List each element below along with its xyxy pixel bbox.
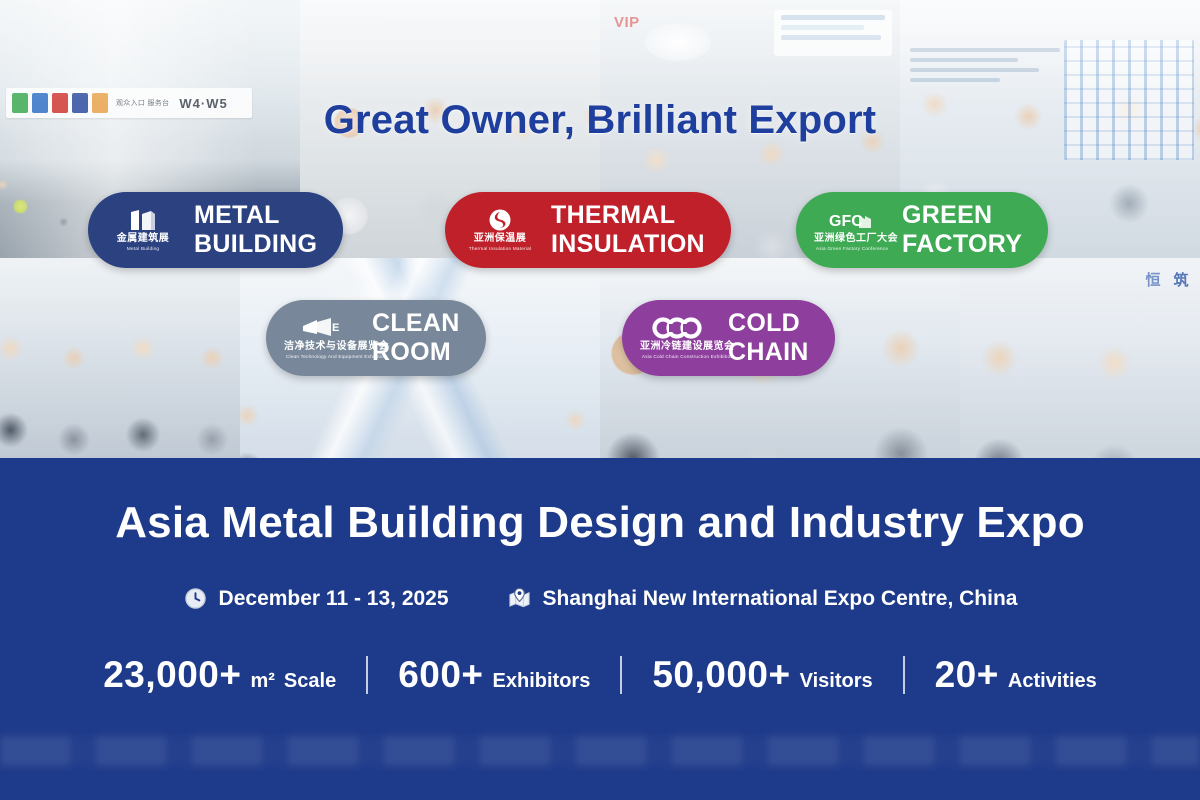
green-factory-gfc-icon: GFC xyxy=(814,207,888,233)
stat-number: 50,000+ xyxy=(652,654,790,696)
stat-number: 600+ xyxy=(398,654,483,696)
banner-char-a: 筑 xyxy=(1168,268,1194,294)
booth-panel xyxy=(774,10,892,56)
logo-cn-text: 亚洲冷链建设展览会 xyxy=(640,341,714,353)
meta-row: December 11 - 13, 2025 Shanghai New Inte… xyxy=(0,586,1200,611)
logo-en-text: Asia Cold Chain Construction Exhibition xyxy=(642,353,712,361)
stat-number: 23,000+ xyxy=(103,654,241,696)
logo-green-factory: GFC 亚洲绿色工厂大会 Asia Green Factory Conferen… xyxy=(814,207,888,253)
logo-cn-text: 金属建筑展 xyxy=(106,233,180,245)
photo-registration-desk: 筑 恒 xyxy=(960,258,1200,458)
pill-metal-building[interactable]: 金属建筑展 Metal Building METAL BUILDING xyxy=(88,192,343,268)
collage-row-bottom: 筑 恒 xyxy=(0,258,1200,458)
stat-scale: 23,000+ m² Scale xyxy=(73,654,366,696)
stat-unit: Exhibitors xyxy=(493,670,591,693)
clock-icon xyxy=(183,586,208,611)
stat-unit: Scale xyxy=(284,670,336,693)
logo-cn-text: 亚洲保温展 xyxy=(463,233,537,245)
stat-visitors: 50,000+ Visitors xyxy=(622,654,902,696)
banner-char-b: 恒 xyxy=(1140,268,1166,294)
clean-room-mark-icon: E xyxy=(284,315,358,341)
map-pin-icon xyxy=(507,586,532,611)
svg-text:GFC: GFC xyxy=(829,213,863,230)
logo-en-text: Asia Green Factory Conference xyxy=(816,245,886,253)
stat-activities: 20+ Activities xyxy=(905,654,1127,696)
stats-row: 23,000+ m² Scale 600+ Exhibitors 50,000+… xyxy=(0,654,1200,696)
expo-title: Asia Metal Building Design and Industry … xyxy=(0,498,1200,548)
stat-exhibitors: 600+ Exhibitors xyxy=(368,654,620,696)
expo-banner-page: 观众入口 服务台 W4·W5 VIP 筑 恒 xyxy=(0,0,1200,800)
stat-unit: Activities xyxy=(1008,670,1097,693)
cold-chain-rings-icon xyxy=(640,315,714,341)
event-venue-text: Shanghai New International Expo Centre, … xyxy=(543,587,1018,611)
pill-label: METAL BUILDING xyxy=(194,201,317,259)
headline: Great Owner, Brilliant Export xyxy=(0,98,1200,143)
pill-label: GREEN FACTORY xyxy=(902,201,1022,259)
metal-building-mark-icon xyxy=(106,207,180,233)
pill-thermal-insulation[interactable]: 亚洲保温展 Thermal Insulation Material THERMA… xyxy=(445,192,731,268)
stat-unit: Visitors xyxy=(800,670,873,693)
event-date: December 11 - 13, 2025 xyxy=(183,586,449,611)
pill-clean-room[interactable]: E 洁净技术与设备展览会 Clean Technology And Equipm… xyxy=(266,300,486,376)
logo-cold-chain: 亚洲冷链建设展览会 Asia Cold Chain Construction E… xyxy=(640,315,714,361)
logo-en-text: Clean Technology And Equipment Exhibitio… xyxy=(286,353,356,361)
logo-thermal-insulation: 亚洲保温展 Thermal Insulation Material xyxy=(463,207,537,253)
logo-clean-room: E 洁净技术与设备展览会 Clean Technology And Equipm… xyxy=(284,315,358,361)
logo-en-text: Metal Building xyxy=(108,245,178,253)
pill-label: COLD CHAIN xyxy=(728,309,809,367)
pill-cold-chain[interactable]: 亚洲冷链建设展览会 Asia Cold Chain Construction E… xyxy=(622,300,835,376)
event-date-text: December 11 - 13, 2025 xyxy=(219,587,449,611)
photo-visitors-walking xyxy=(0,258,240,458)
logo-cn-text: 洁净技术与设备展览会 xyxy=(284,341,358,353)
logo-cn-text: 亚洲绿色工厂大会 xyxy=(814,233,888,245)
stat-unit-sup: m² xyxy=(250,670,274,693)
thermal-swirl-icon xyxy=(463,207,537,233)
svg-text:E: E xyxy=(332,322,339,334)
logo-en-text: Thermal Insulation Material xyxy=(465,245,535,253)
stat-number: 20+ xyxy=(935,654,999,696)
event-venue: Shanghai New International Expo Centre, … xyxy=(507,586,1018,611)
pill-green-factory[interactable]: GFC 亚洲绿色工厂大会 Asia Green Factory Conferen… xyxy=(796,192,1048,268)
pill-label: THERMAL INSULATION xyxy=(551,201,705,259)
logo-metal-building: 金属建筑展 Metal Building xyxy=(106,207,180,253)
vip-tag: VIP xyxy=(614,14,640,31)
